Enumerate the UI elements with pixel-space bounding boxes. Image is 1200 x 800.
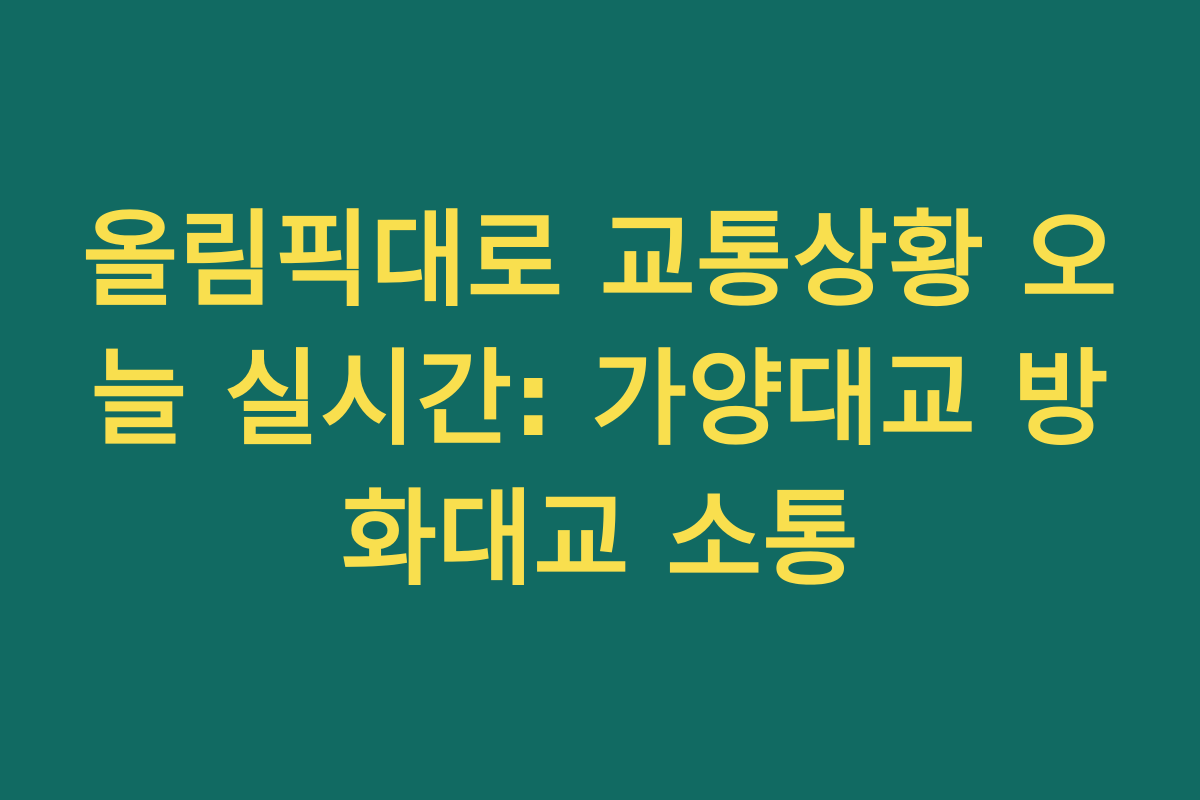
headline-line-2: 늘 실시간: 가양대교 방 — [70, 330, 1130, 469]
poster-canvas: 올림픽대로 교통상황 오 늘 실시간: 가양대교 방 화대교 소통 — [0, 0, 1200, 800]
headline-line-1: 올림픽대로 교통상황 오 — [70, 191, 1130, 330]
page-title: 올림픽대로 교통상황 오 늘 실시간: 가양대교 방 화대교 소통 — [70, 191, 1130, 609]
headline-line-3: 화대교 소통 — [70, 470, 1130, 609]
